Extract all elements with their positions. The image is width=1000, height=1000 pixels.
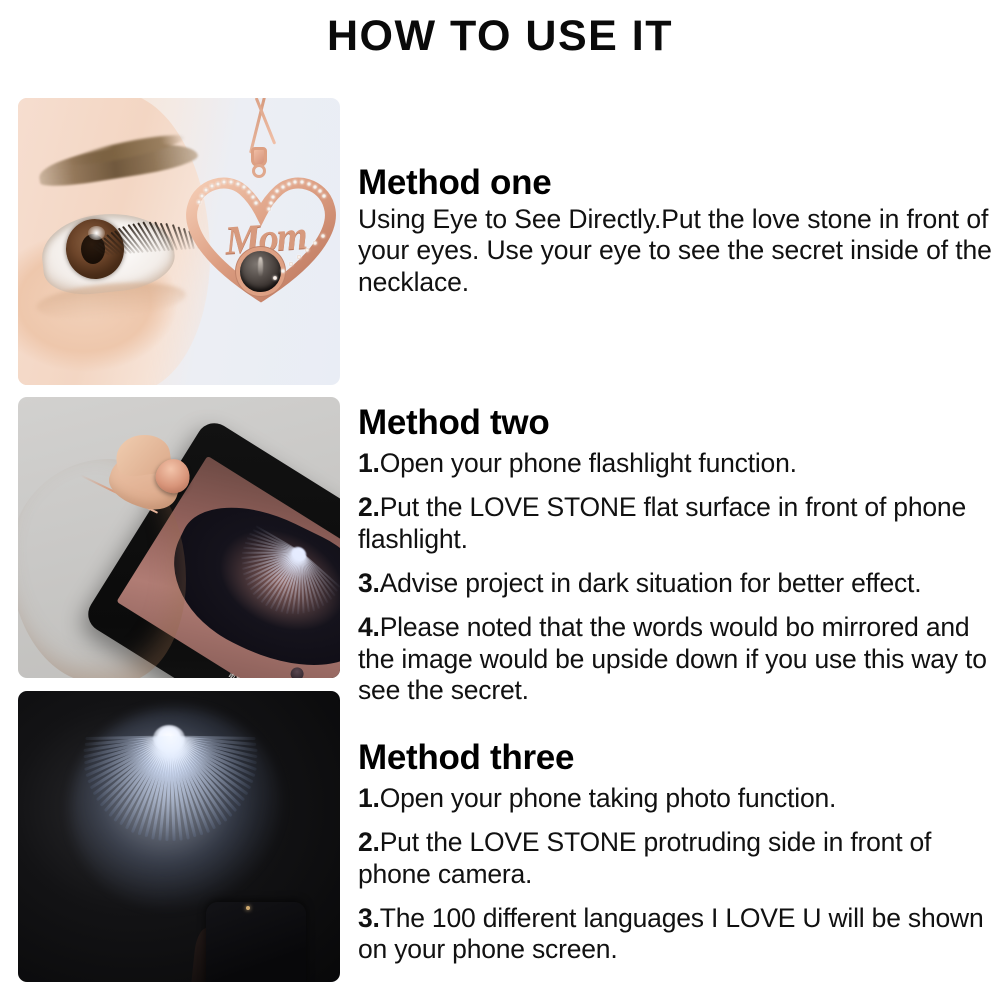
gemstone — [271, 195, 275, 199]
step-number: 1. — [358, 783, 380, 813]
step-number: 3. — [358, 568, 380, 598]
phone-silhouette — [206, 902, 306, 982]
gemstone — [242, 185, 246, 189]
step-text: Advise project in dark situation for bet… — [380, 568, 922, 598]
step-text: Open your phone taking photo function. — [380, 783, 837, 813]
method-one-block: Method one Using Eye to See Directly.Put… — [358, 163, 994, 298]
method-two-steps: 1.Open your phone flashlight function.2.… — [358, 448, 994, 706]
gemstone — [318, 189, 322, 193]
gemstone — [321, 234, 325, 238]
gemstone — [289, 262, 293, 266]
step-item: 2.Put the LOVE STONE flat surface in fro… — [358, 492, 994, 555]
method-one-body: Using Eye to See Directly.Put the love s… — [358, 204, 994, 298]
page-title: HOW TO USE IT — [0, 14, 1000, 59]
method-two-title: Method two — [358, 403, 994, 442]
gemstone — [307, 182, 311, 186]
method-three-steps: 1.Open your phone taking photo function.… — [358, 783, 994, 965]
hand-holding-pendant-over-phone-photo: 电影效果视频拍照人像全景 — [18, 397, 340, 678]
heart-pendant: Mom — [181, 168, 340, 303]
step-item: 4.Please noted that the words would bo m… — [358, 612, 994, 706]
gemstone — [281, 269, 285, 273]
projection-pattern — [69, 721, 269, 921]
gemstone — [281, 185, 285, 189]
gemstone — [297, 255, 301, 259]
step-text: Put the LOVE STONE protruding side in fr… — [358, 827, 931, 888]
step-item: 1.Open your phone flashlight function. — [358, 448, 994, 479]
gemstone — [247, 190, 251, 194]
step-number: 2. — [358, 827, 380, 857]
eye-and-pendant-photo: Mom — [18, 98, 340, 385]
gemstone — [236, 182, 240, 186]
infographic-page: HOW TO USE IT — [0, 0, 1000, 1000]
step-item: 1.Open your phone taking photo function. — [358, 783, 994, 814]
gemstone — [216, 182, 220, 186]
gemstone — [313, 241, 317, 245]
gemstone — [305, 248, 309, 252]
step-number: 4. — [358, 612, 380, 642]
step-number: 1. — [358, 448, 380, 478]
gemstone — [200, 194, 204, 198]
step-text: Put the LOVE STONE flat surface in front… — [358, 492, 966, 553]
method-three-block: Method three 1.Open your phone taking ph… — [358, 738, 994, 966]
method-one-title: Method one — [358, 163, 994, 202]
step-text: Open your phone flashlight function. — [380, 448, 797, 478]
gemstone — [210, 184, 214, 188]
step-item: 2.Put the LOVE STONE protruding side in … — [358, 827, 994, 890]
gemstone — [197, 200, 201, 204]
gemstone — [287, 182, 291, 186]
gemstone — [251, 195, 255, 199]
method-three-title: Method three — [358, 738, 994, 777]
step-text: The 100 different languages I LOVE U wil… — [358, 903, 984, 964]
step-number: 2. — [358, 492, 380, 522]
step-item: 3.The 100 different languages I LOVE U w… — [358, 903, 994, 966]
gemstone — [269, 201, 273, 205]
step-item: 3.Advise project in dark situation for b… — [358, 568, 994, 599]
step-number: 3. — [358, 903, 380, 933]
step-text: Please noted that the words would bo mir… — [358, 612, 987, 705]
gemstone — [313, 185, 317, 189]
projection-stone — [240, 251, 281, 292]
gemstone — [254, 201, 258, 205]
method-two-block: Method two 1.Open your phone flashlight … — [358, 403, 994, 706]
projection-on-wall-photo — [18, 691, 340, 982]
gemstone — [273, 276, 277, 280]
